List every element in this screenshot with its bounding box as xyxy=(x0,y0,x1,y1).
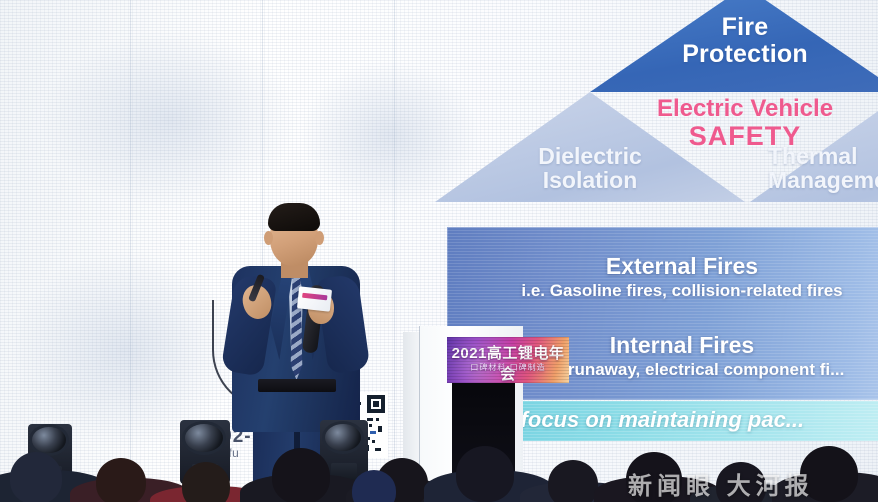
microphone-flag xyxy=(297,286,332,311)
ev-safety-line2: SAFETY xyxy=(570,122,878,152)
ev-safety-title: Electric Vehicle SAFETY xyxy=(570,96,878,152)
audience-member xyxy=(10,452,62,502)
stage-light-lens xyxy=(325,424,361,451)
pyramid-top-label: Fire Protection xyxy=(590,14,878,67)
pyramid-top-label-line1: Fire xyxy=(590,14,878,41)
audience-member xyxy=(182,462,230,502)
news-watermark: 新闻眼 大河报 xyxy=(628,466,814,501)
speaker-hair xyxy=(268,203,320,231)
pyramid-top-label-line2: Protection xyxy=(590,41,878,68)
microphone-flag-logo xyxy=(302,293,327,301)
speaker-belt xyxy=(258,379,336,392)
pyramid-left-label-line2: Isolation xyxy=(435,168,745,192)
stage-light-lens xyxy=(32,427,66,453)
stage-light-lens xyxy=(185,424,223,452)
wall-seam xyxy=(394,0,395,502)
speaker-ear-left xyxy=(264,231,273,245)
audience-member xyxy=(272,448,330,502)
conference-led-banner: 2021高工锂电年会 口碑材料 口碑制造 xyxy=(447,337,569,383)
pyramid-right-label-line2: Management xyxy=(768,168,878,192)
ev-safety-line1: Electric Vehicle xyxy=(570,96,878,122)
speaker-ear-right xyxy=(315,231,324,245)
audience-member xyxy=(548,460,598,502)
presentation-photo: Fire Protection Dielectric Isolation The… xyxy=(0,0,878,502)
banner-scanline-texture xyxy=(447,337,569,383)
wall-seam xyxy=(130,0,131,502)
audience-member xyxy=(456,446,514,502)
audience-member xyxy=(96,458,146,502)
